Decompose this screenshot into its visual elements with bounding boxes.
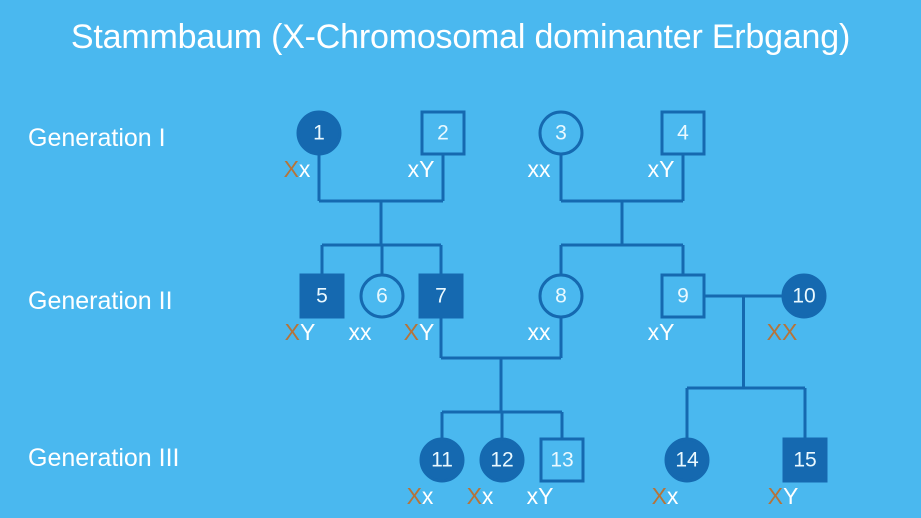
individual-3[interactable]: 3 bbox=[540, 112, 582, 154]
individual-9[interactable]: 9 bbox=[662, 275, 704, 317]
individual-14[interactable]: 14 bbox=[666, 439, 708, 481]
genotype-label-12: Xx bbox=[467, 483, 494, 510]
genotype-label-2: xY bbox=[408, 156, 435, 183]
individual-id-label-6: 6 bbox=[376, 285, 388, 308]
individual-4[interactable]: 4 bbox=[662, 112, 704, 154]
individual-10[interactable]: 10 bbox=[783, 275, 825, 317]
individual-id-label-13: 13 bbox=[550, 449, 573, 472]
individual-12[interactable]: 12 bbox=[481, 439, 523, 481]
individual-id-label-4: 4 bbox=[677, 122, 689, 145]
individual-id-label-5: 5 bbox=[316, 285, 328, 308]
individual-1[interactable]: 1 bbox=[298, 112, 340, 154]
allele-recessive: x bbox=[422, 483, 434, 509]
genotype-label-3: xx bbox=[528, 156, 551, 183]
individual-2[interactable]: 2 bbox=[422, 112, 464, 154]
allele-recessive: x bbox=[408, 156, 420, 182]
allele-recessive: Y bbox=[659, 319, 674, 345]
allele-recessive: Y bbox=[300, 319, 315, 345]
individual-id-label-1: 1 bbox=[313, 122, 325, 145]
allele-recessive: x bbox=[299, 156, 311, 182]
allele-recessive: x bbox=[482, 483, 494, 509]
genotype-label-5: XY bbox=[285, 319, 316, 346]
allele-dominant: X bbox=[407, 483, 422, 509]
allele-recessive: x bbox=[648, 156, 660, 182]
genotype-label-10: XX bbox=[767, 319, 798, 346]
allele-recessive: x bbox=[528, 319, 540, 345]
genotype-label-6: xx bbox=[349, 319, 372, 346]
allele-recessive: Y bbox=[419, 156, 434, 182]
allele-recessive: x bbox=[528, 156, 540, 182]
allele-dominant: X bbox=[652, 483, 667, 509]
individual-15[interactable]: 15 bbox=[784, 439, 826, 481]
allele-dominant: X bbox=[404, 319, 419, 345]
individual-5[interactable]: 5 bbox=[301, 275, 343, 317]
allele-dominant: X bbox=[767, 319, 782, 345]
allele-recessive: x bbox=[349, 319, 361, 345]
genotype-label-13: xY bbox=[527, 483, 554, 510]
allele-dominant: X bbox=[285, 319, 300, 345]
genotype-label-15: XY bbox=[768, 483, 799, 510]
genotype-label-7: XY bbox=[404, 319, 435, 346]
individual-id-label-12: 12 bbox=[490, 449, 513, 472]
genotype-label-1: Xx bbox=[284, 156, 311, 183]
allele-recessive: x bbox=[527, 483, 539, 509]
allele-recessive: Y bbox=[783, 483, 798, 509]
allele-recessive: Y bbox=[659, 156, 674, 182]
individual-id-label-7: 7 bbox=[435, 285, 447, 308]
individual-8[interactable]: 8 bbox=[540, 275, 582, 317]
allele-recessive: Y bbox=[419, 319, 434, 345]
individual-13[interactable]: 13 bbox=[541, 439, 583, 481]
individual-id-label-11: 11 bbox=[431, 449, 453, 472]
individual-7[interactable]: 7 bbox=[420, 275, 462, 317]
individual-id-label-9: 9 bbox=[677, 285, 689, 308]
allele-recessive: x bbox=[539, 319, 551, 345]
genotype-label-14: Xx bbox=[652, 483, 679, 510]
allele-recessive: x bbox=[360, 319, 372, 345]
genotype-label-4: xY bbox=[648, 156, 675, 183]
individual-11[interactable]: 11 bbox=[421, 439, 463, 481]
genotype-label-11: Xx bbox=[407, 483, 434, 510]
allele-recessive: x bbox=[667, 483, 679, 509]
individual-id-label-10: 10 bbox=[792, 285, 815, 308]
pedigree-chart-canvas: Stammbaum (X-Chromosomal dominanter Erbg… bbox=[0, 0, 921, 518]
allele-dominant: X bbox=[782, 319, 797, 345]
individual-id-label-8: 8 bbox=[555, 285, 567, 308]
individual-id-label-2: 2 bbox=[437, 122, 449, 145]
allele-recessive: x bbox=[648, 319, 660, 345]
genotype-label-9: xY bbox=[648, 319, 675, 346]
individual-id-label-3: 3 bbox=[555, 122, 567, 145]
genotype-label-8: xx bbox=[528, 319, 551, 346]
individual-6[interactable]: 6 bbox=[361, 275, 403, 317]
pedigree-diagram: 123456789101112131415 bbox=[0, 0, 921, 518]
allele-recessive: x bbox=[539, 156, 551, 182]
allele-recessive: Y bbox=[538, 483, 553, 509]
individual-id-label-15: 15 bbox=[793, 449, 816, 472]
allele-dominant: X bbox=[768, 483, 783, 509]
allele-dominant: X bbox=[467, 483, 482, 509]
individual-id-label-14: 14 bbox=[675, 449, 699, 472]
allele-dominant: X bbox=[284, 156, 299, 182]
